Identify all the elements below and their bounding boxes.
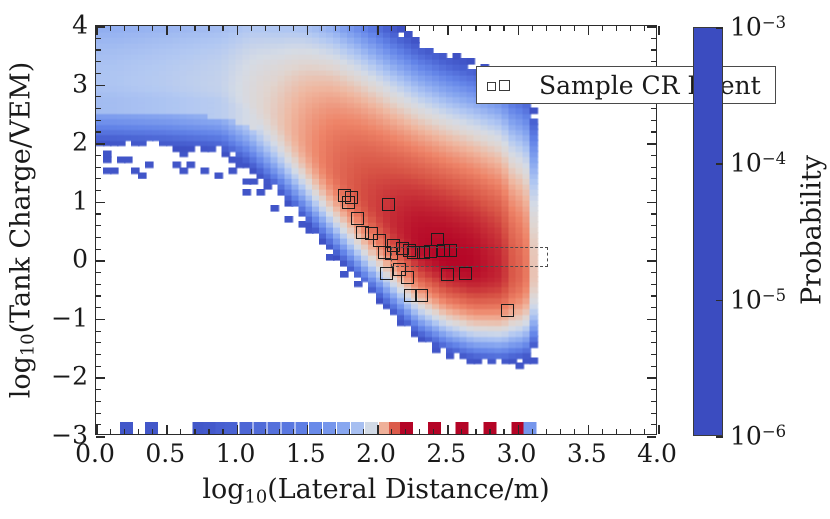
x-axis-title: log10(Lateral Distance/m)	[202, 474, 549, 507]
y-major-tick-right	[647, 26, 656, 28]
x-minor-tick-top	[644, 26, 645, 31]
y-minor-tick-right	[651, 190, 656, 191]
x-minor-tick	[461, 429, 462, 434]
y-minor-tick	[96, 342, 101, 343]
sample-cr-event-marker[interactable]	[501, 304, 514, 317]
y-minor-tick-right	[651, 167, 656, 168]
legend-marker	[499, 80, 510, 91]
y-minor-tick	[96, 131, 101, 132]
x-minor-tick-top	[532, 26, 533, 31]
y-minor-tick	[96, 237, 101, 238]
x-minor-tick-top	[419, 26, 420, 31]
y-minor-tick	[96, 213, 101, 214]
y-minor-tick	[96, 61, 101, 62]
x-tick-label: 1.0	[216, 441, 256, 466]
x-minor-tick-top	[293, 26, 294, 31]
colorbar-tick	[716, 27, 723, 29]
x-minor-tick-top	[335, 26, 336, 31]
y-minor-tick-right	[651, 237, 656, 238]
x-minor-tick-top	[124, 26, 125, 31]
legend-label: Sample CR Event	[539, 71, 761, 100]
y-major-tick	[96, 260, 105, 262]
y-minor-tick-right	[651, 120, 656, 121]
y-minor-tick-right	[651, 178, 656, 179]
x-minor-tick	[152, 429, 153, 434]
x-minor-tick-top	[138, 26, 139, 31]
colorbar-tick-label-exponent: −4	[762, 149, 786, 168]
x-major-tick-top	[658, 26, 660, 35]
x-axis-title-prefix: log	[202, 474, 244, 505]
y-minor-tick-right	[651, 131, 656, 132]
y-minor-tick-right	[651, 401, 656, 402]
y-minor-tick	[96, 331, 101, 332]
y-major-tick	[96, 26, 105, 28]
x-minor-tick	[349, 429, 350, 434]
x-tick-label: 4.0	[637, 441, 677, 466]
x-minor-tick	[110, 429, 111, 434]
y-minor-tick	[96, 401, 101, 402]
x-minor-tick-top	[279, 26, 280, 31]
x-minor-tick	[321, 429, 322, 434]
colorbar-tick-label: 10−6	[730, 424, 786, 449]
y-major-tick	[96, 377, 105, 379]
y-minor-tick-right	[651, 225, 656, 226]
x-minor-tick-top	[405, 26, 406, 31]
legend-box[interactable]: Sample CR Event	[476, 66, 776, 104]
x-minor-tick	[208, 429, 209, 434]
x-minor-tick-top	[222, 26, 223, 31]
y-minor-tick	[96, 307, 101, 308]
y-minor-tick	[96, 167, 101, 168]
x-minor-tick	[251, 429, 252, 434]
sample-cr-event-marker[interactable]	[401, 271, 414, 284]
y-minor-tick-right	[651, 366, 656, 367]
x-minor-tick-top	[475, 26, 476, 31]
x-minor-tick-top	[461, 26, 462, 31]
x-major-tick	[166, 425, 168, 434]
y-minor-tick-right	[651, 284, 656, 285]
y-minor-tick-right	[651, 354, 656, 355]
colorbar-tick	[716, 163, 723, 165]
y-minor-tick	[96, 413, 101, 414]
x-minor-tick-top	[265, 26, 266, 31]
x-minor-tick-top	[391, 26, 392, 31]
x-major-tick	[588, 425, 590, 434]
x-minor-tick	[391, 429, 392, 434]
x-minor-tick-top	[546, 26, 547, 31]
x-tick-label: 2.5	[426, 441, 466, 466]
x-minor-tick-top	[321, 26, 322, 31]
sample-cr-event-marker[interactable]	[415, 289, 428, 302]
x-major-tick-top	[518, 26, 520, 35]
sample-cr-event-marker[interactable]	[441, 268, 454, 281]
sample-cr-event-marker[interactable]	[351, 212, 364, 225]
y-tick-label: 0	[72, 247, 88, 272]
colorbar-tick-label-base: 10	[730, 285, 762, 314]
colorbar-tick-label: 10−3	[730, 15, 786, 40]
x-minor-tick	[630, 429, 631, 434]
x-major-tick	[96, 425, 98, 434]
x-major-tick	[377, 425, 379, 434]
y-tick-label: 4	[72, 13, 88, 38]
y-minor-tick-right	[651, 49, 656, 50]
colorbar-tick-label: 10−4	[730, 151, 786, 176]
x-minor-tick	[419, 429, 420, 434]
y-minor-tick-right	[651, 342, 656, 343]
y-minor-tick-right	[651, 413, 656, 414]
x-axis-title-rest: (Lateral Distance/m)	[267, 474, 549, 505]
x-minor-tick-top	[616, 26, 617, 31]
x-tick-label: 3.0	[497, 441, 537, 466]
y-minor-tick	[96, 272, 101, 273]
y-minor-tick	[96, 73, 101, 74]
y-minor-tick	[96, 284, 101, 285]
x-minor-tick-top	[574, 26, 575, 31]
y-minor-tick	[96, 190, 101, 191]
x-minor-tick	[265, 429, 266, 434]
y-major-tick	[96, 319, 105, 321]
x-major-tick-top	[166, 26, 168, 35]
y-minor-tick-right	[651, 424, 656, 425]
y-minor-tick	[96, 295, 101, 296]
x-minor-tick	[194, 429, 195, 434]
y-major-tick-right	[647, 202, 656, 204]
y-minor-tick	[96, 354, 101, 355]
figure-root: log10(Tank Charge/VEM) log10(Lateral Dis…	[0, 0, 830, 519]
y-minor-tick	[96, 424, 101, 425]
y-major-tick-right	[647, 377, 656, 379]
x-major-tick-top	[447, 26, 449, 35]
x-major-tick	[518, 425, 520, 434]
colorbar-tick-label-exponent: −6	[762, 422, 786, 441]
colorbar-tick	[716, 300, 723, 302]
x-minor-tick-top	[152, 26, 153, 31]
x-minor-tick	[124, 429, 125, 434]
x-minor-tick	[138, 429, 139, 434]
legend-marker	[487, 82, 496, 91]
x-minor-tick	[335, 429, 336, 434]
x-minor-tick	[293, 429, 294, 434]
sample-cr-event-marker[interactable]	[380, 267, 393, 280]
x-minor-tick-top	[602, 26, 603, 31]
x-major-tick	[658, 425, 660, 434]
x-minor-tick-top	[433, 26, 434, 31]
x-minor-tick-top	[489, 26, 490, 31]
y-major-tick	[96, 143, 105, 145]
x-minor-tick-top	[110, 26, 111, 31]
y-minor-tick	[96, 108, 101, 109]
x-major-tick	[307, 425, 309, 434]
x-minor-tick	[616, 429, 617, 434]
y-minor-tick-right	[651, 38, 656, 39]
x-major-tick-top	[588, 26, 590, 35]
y-minor-tick	[96, 155, 101, 156]
y-major-tick	[96, 202, 105, 204]
x-minor-tick	[546, 429, 547, 434]
x-minor-tick-top	[560, 26, 561, 31]
x-major-tick-top	[307, 26, 309, 35]
x-minor-tick	[180, 429, 181, 434]
colorbar-tick-label: 10−5	[730, 287, 786, 312]
x-minor-tick	[602, 429, 603, 434]
colorbar-tick-label-exponent: −5	[762, 286, 786, 305]
y-axis-title-subscript: 10	[18, 333, 39, 356]
y-axis-title-rest: (Tank Charge/VEM)	[5, 62, 36, 334]
y-minor-tick-right	[651, 295, 656, 296]
x-minor-tick	[503, 429, 504, 434]
y-minor-tick-right	[651, 272, 656, 273]
colorbar-tick	[716, 436, 723, 438]
y-minor-tick-right	[651, 61, 656, 62]
y-axis-title: log10(Tank Charge/VEM)	[5, 62, 38, 399]
sample-cr-event-marker[interactable]	[382, 198, 395, 211]
y-minor-tick	[96, 366, 101, 367]
x-minor-tick-top	[251, 26, 252, 31]
x-minor-tick-top	[208, 26, 209, 31]
legend-marker-group	[487, 80, 533, 91]
x-minor-tick	[532, 429, 533, 434]
x-major-tick	[447, 425, 449, 434]
y-minor-tick-right	[651, 155, 656, 156]
y-major-tick-right	[647, 260, 656, 262]
x-minor-tick-top	[363, 26, 364, 31]
colorbar-wrapper[interactable]	[693, 27, 723, 436]
x-minor-tick	[279, 429, 280, 434]
x-minor-tick-top	[194, 26, 195, 31]
y-major-tick-right	[647, 436, 656, 438]
colorbar-title: Probability	[797, 155, 828, 305]
x-minor-tick	[560, 429, 561, 434]
sample-cr-event-marker[interactable]	[459, 267, 472, 280]
y-minor-tick-right	[651, 389, 656, 390]
y-minor-tick	[96, 249, 101, 250]
colorbar-gradient	[693, 27, 723, 436]
sample-cr-event-marker[interactable]	[431, 233, 444, 246]
y-minor-tick	[96, 225, 101, 226]
colorbar-tick-label-base: 10	[730, 149, 762, 178]
x-tick-label: 3.5	[567, 441, 607, 466]
colorbar-tick-label-base: 10	[730, 13, 762, 42]
annotation-dashed-rectangle[interactable]	[391, 247, 548, 267]
x-minor-tick-top	[630, 26, 631, 31]
y-major-tick	[96, 436, 105, 438]
x-tick-label: 0.5	[145, 441, 185, 466]
x-minor-tick	[574, 429, 575, 434]
x-minor-tick	[475, 429, 476, 434]
y-minor-tick-right	[651, 249, 656, 250]
x-axis-title-subscript: 10	[245, 486, 268, 507]
colorbar-tick-label-exponent: −3	[762, 13, 786, 32]
y-tick-label: 1	[72, 188, 88, 213]
y-major-tick-right	[647, 143, 656, 145]
y-minor-tick	[96, 96, 101, 97]
x-minor-tick	[222, 429, 223, 434]
y-tick-label: −1	[51, 305, 88, 330]
y-minor-tick	[96, 49, 101, 50]
y-minor-tick-right	[651, 331, 656, 332]
x-minor-tick	[405, 429, 406, 434]
x-minor-tick-top	[180, 26, 181, 31]
y-tick-label: −3	[51, 423, 88, 448]
x-minor-tick	[489, 429, 490, 434]
plot-area[interactable]: Sample CR Event	[95, 25, 657, 435]
y-minor-tick-right	[651, 108, 656, 109]
x-major-tick	[237, 425, 239, 434]
y-major-tick-right	[647, 319, 656, 321]
x-minor-tick-top	[503, 26, 504, 31]
y-minor-tick-right	[651, 213, 656, 214]
y-tick-label: 2	[72, 130, 88, 155]
y-minor-tick	[96, 38, 101, 39]
y-tick-label: −2	[51, 364, 88, 389]
y-tick-label: 3	[72, 71, 88, 96]
x-minor-tick	[433, 429, 434, 434]
x-minor-tick-top	[349, 26, 350, 31]
y-major-tick	[96, 85, 105, 87]
colorbar-tick-label-base: 10	[730, 422, 762, 451]
x-tick-label: 1.5	[286, 441, 326, 466]
y-minor-tick	[96, 178, 101, 179]
y-axis-title-prefix: log	[5, 356, 36, 398]
y-minor-tick-right	[651, 307, 656, 308]
y-minor-tick	[96, 389, 101, 390]
x-tick-label: 2.0	[356, 441, 396, 466]
x-major-tick-top	[377, 26, 379, 35]
x-major-tick-top	[237, 26, 239, 35]
x-minor-tick	[644, 429, 645, 434]
sample-cr-event-marker[interactable]	[342, 196, 355, 209]
x-minor-tick	[363, 429, 364, 434]
y-minor-tick	[96, 120, 101, 121]
